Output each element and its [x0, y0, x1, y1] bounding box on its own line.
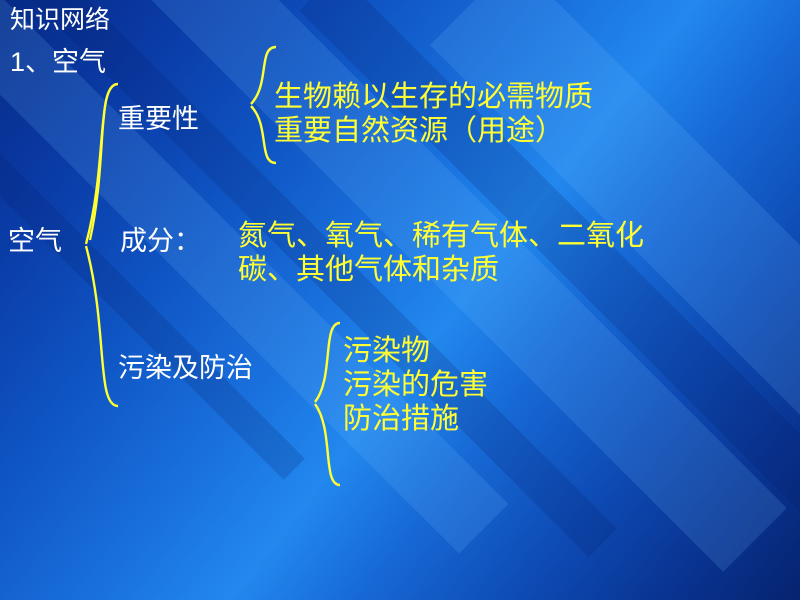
- pollution-line-1: 污染物: [343, 335, 430, 367]
- branch-label-pollution: 污染及防治: [118, 353, 253, 385]
- branch-content-importance: 生物赖以生存的必需物质 重要自然资源（用途）: [274, 80, 593, 148]
- page-title-line2: 1、空气: [10, 47, 106, 79]
- slide-canvas: 知识网络 1、空气 空气 重要性 生物赖以生存的必需物质 重要自然资源（用途） …: [0, 0, 800, 600]
- page-title-line1: 知识网络: [10, 6, 110, 36]
- root-label-air: 空气: [8, 226, 62, 258]
- composition-line-2: 碳、其他气体和杂质: [238, 254, 499, 286]
- pollution-line-3: 防治措施: [343, 403, 459, 435]
- importance-line-2: 重要自然资源（用途）: [274, 115, 564, 147]
- brace-pollution-icon: [312, 320, 344, 488]
- branch-label-composition: 成分：: [120, 226, 201, 258]
- composition-line-1: 氮气、氧气、稀有气体、二氧化: [238, 220, 644, 252]
- pollution-line-2: 污染的危害: [343, 369, 488, 401]
- branch-label-importance: 重要性: [118, 104, 199, 136]
- branch-content-composition: 氮气、氧气、稀有气体、二氧化 碳、其他气体和杂质: [238, 219, 644, 287]
- importance-line-1: 生物赖以生存的必需物质: [274, 81, 593, 113]
- branch-content-pollution: 污染物 污染的危害 防治措施: [343, 334, 488, 437]
